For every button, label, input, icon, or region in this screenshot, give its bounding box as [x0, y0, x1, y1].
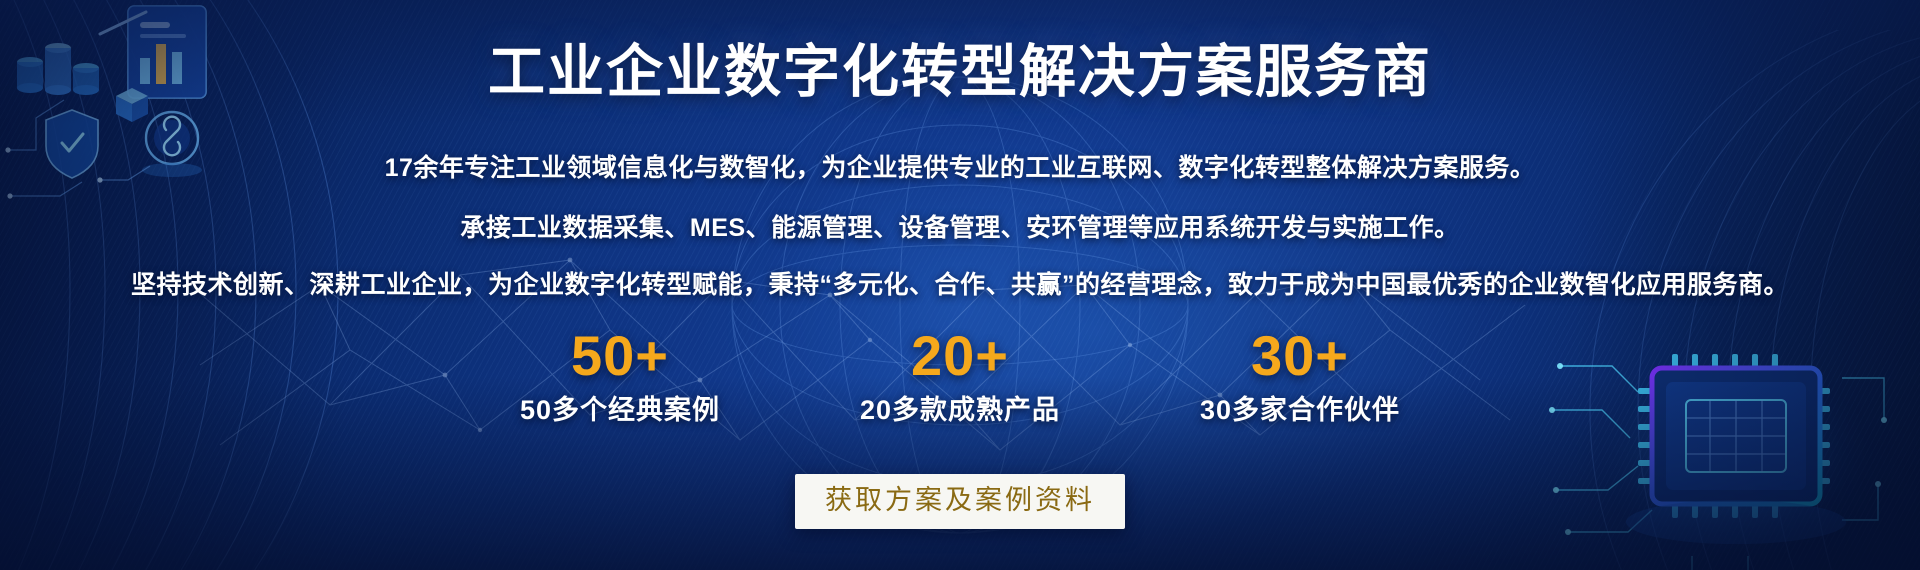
page-title: 工业企业数字化转型解决方案服务商 — [0, 40, 1920, 104]
subtitle-line-2: 承接工业数据采集、MES、能源管理、设备管理、安环管理等应用系统开发与实施工作。 — [0, 208, 1920, 244]
stat-label-partners: 30多家合作伙伴 — [1175, 393, 1425, 427]
cta-container: 获取方案及案例资料 — [0, 474, 1920, 529]
subtitle-line-1: 17余年专注工业领域信息化与数智化，为企业提供专业的工业互联网、数字化转型整体解… — [0, 148, 1920, 184]
banner-content: 工业企业数字化转型解决方案服务商 17余年专注工业领域信息化与数智化，为企业提供… — [0, 0, 1920, 570]
stat-item-products: 20+ 20多款成熟产品 — [835, 325, 1085, 427]
stat-label-cases: 50多个经典案例 — [495, 393, 745, 427]
stat-number-products: 20+ — [835, 325, 1085, 387]
stat-number-partners: 30+ — [1175, 325, 1425, 387]
stat-number-cases: 50+ — [495, 325, 745, 387]
stat-item-partners: 30+ 30多家合作伙伴 — [1175, 325, 1425, 427]
subtitle-line-3: 坚持技术创新、深耕工业企业，为企业数字化转型赋能，秉持“多元化、合作、共赢”的经… — [0, 265, 1920, 301]
get-solution-materials-button[interactable]: 获取方案及案例资料 — [795, 474, 1125, 529]
hero-banner: 工业企业数字化转型解决方案服务商 17余年专注工业领域信息化与数智化，为企业提供… — [0, 0, 1920, 570]
stats-row: 50+ 50多个经典案例 20+ 20多款成熟产品 30+ 30多家合作伙伴 — [0, 325, 1920, 427]
stat-label-products: 20多款成熟产品 — [835, 393, 1085, 427]
stat-item-cases: 50+ 50多个经典案例 — [495, 325, 745, 427]
